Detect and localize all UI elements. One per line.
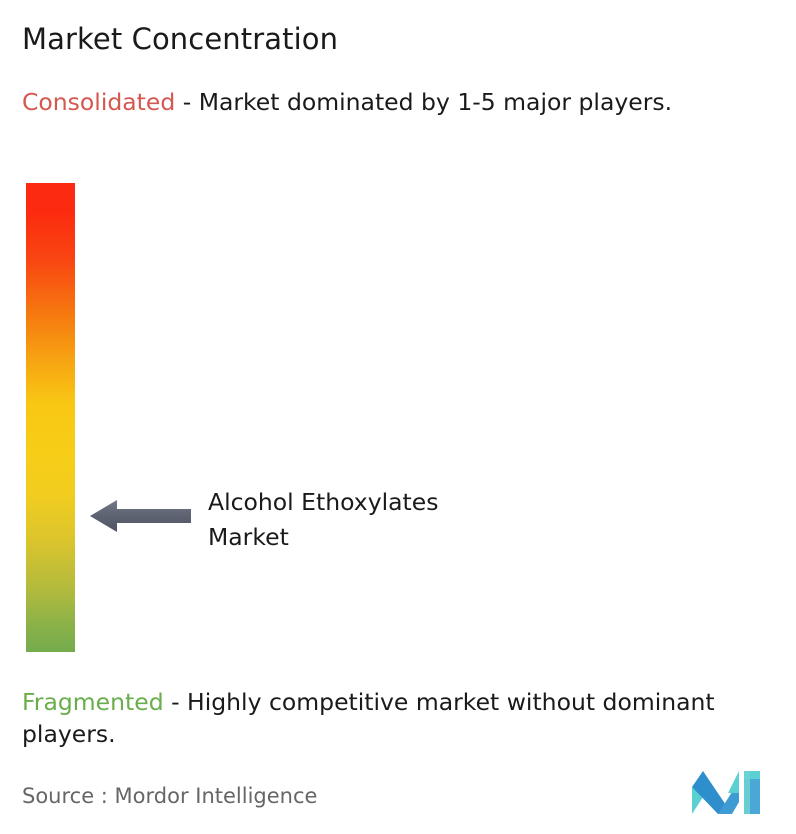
concentration-gradient-scale bbox=[26, 183, 75, 652]
legend-consolidated: Consolidated - Market dominated by 1-5 m… bbox=[22, 86, 767, 118]
left-arrow-shape bbox=[90, 500, 191, 532]
callout-label: Alcohol Ethoxylates Market bbox=[208, 485, 438, 555]
legend-fragmented: Fragmented - Highly competitive market w… bbox=[22, 686, 792, 750]
mordor-intelligence-logo bbox=[692, 771, 760, 814]
logo-shape-7 bbox=[744, 771, 750, 814]
source-attribution: Source : Mordor Intelligence bbox=[22, 782, 317, 810]
chart-canvas: Market Concentration Consolidated - Mark… bbox=[0, 0, 796, 834]
logo-shape-4 bbox=[728, 771, 739, 793]
legend-fragmented-keyword: Fragmented bbox=[22, 688, 164, 716]
page-title: Market Concentration bbox=[22, 20, 338, 58]
legend-consolidated-keyword: Consolidated bbox=[22, 88, 175, 116]
left-arrow-icon bbox=[89, 498, 192, 534]
legend-consolidated-description: - Market dominated by 1-5 major players. bbox=[175, 88, 672, 116]
